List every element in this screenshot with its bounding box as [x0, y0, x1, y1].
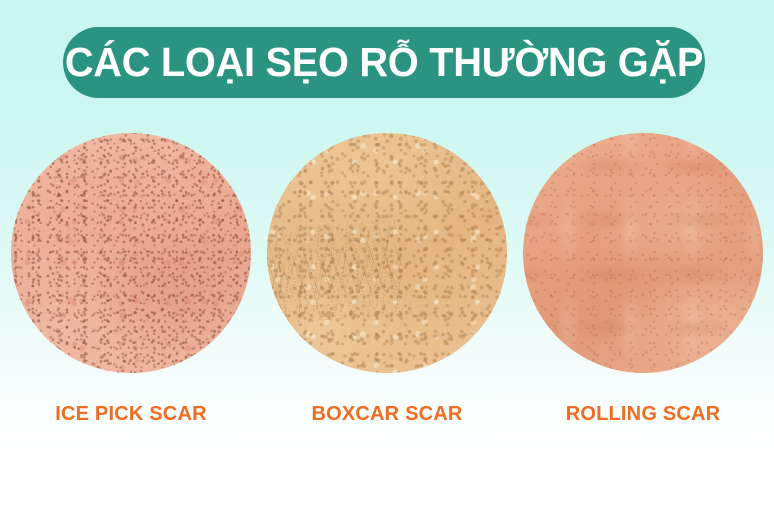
scar-label-boxcar: BOXCAR SCAR [267, 403, 507, 426]
page-title: CÁC LOẠI SẸO RỖ THƯỜNG GẶP [65, 42, 703, 83]
scar-photo-ice-pick [11, 133, 251, 373]
scar-photo-boxcar [267, 133, 507, 373]
scar-photo-rolling [523, 133, 763, 373]
title-banner: CÁC LOẠI SẸO RỖ THƯỜNG GẶP [63, 27, 705, 98]
scar-label-ice-pick: ICE PICK SCAR [11, 403, 251, 426]
hair-strands-overlay [267, 219, 405, 325]
infographic-canvas: CÁC LOẠI SẸO RỖ THƯỜNG GẶP ICE PICK SCAR… [0, 0, 774, 515]
pore-texture-rolling [523, 133, 763, 373]
pore-texture-ice-pick [11, 133, 251, 373]
scar-label-rolling: ROLLING SCAR [523, 403, 763, 426]
